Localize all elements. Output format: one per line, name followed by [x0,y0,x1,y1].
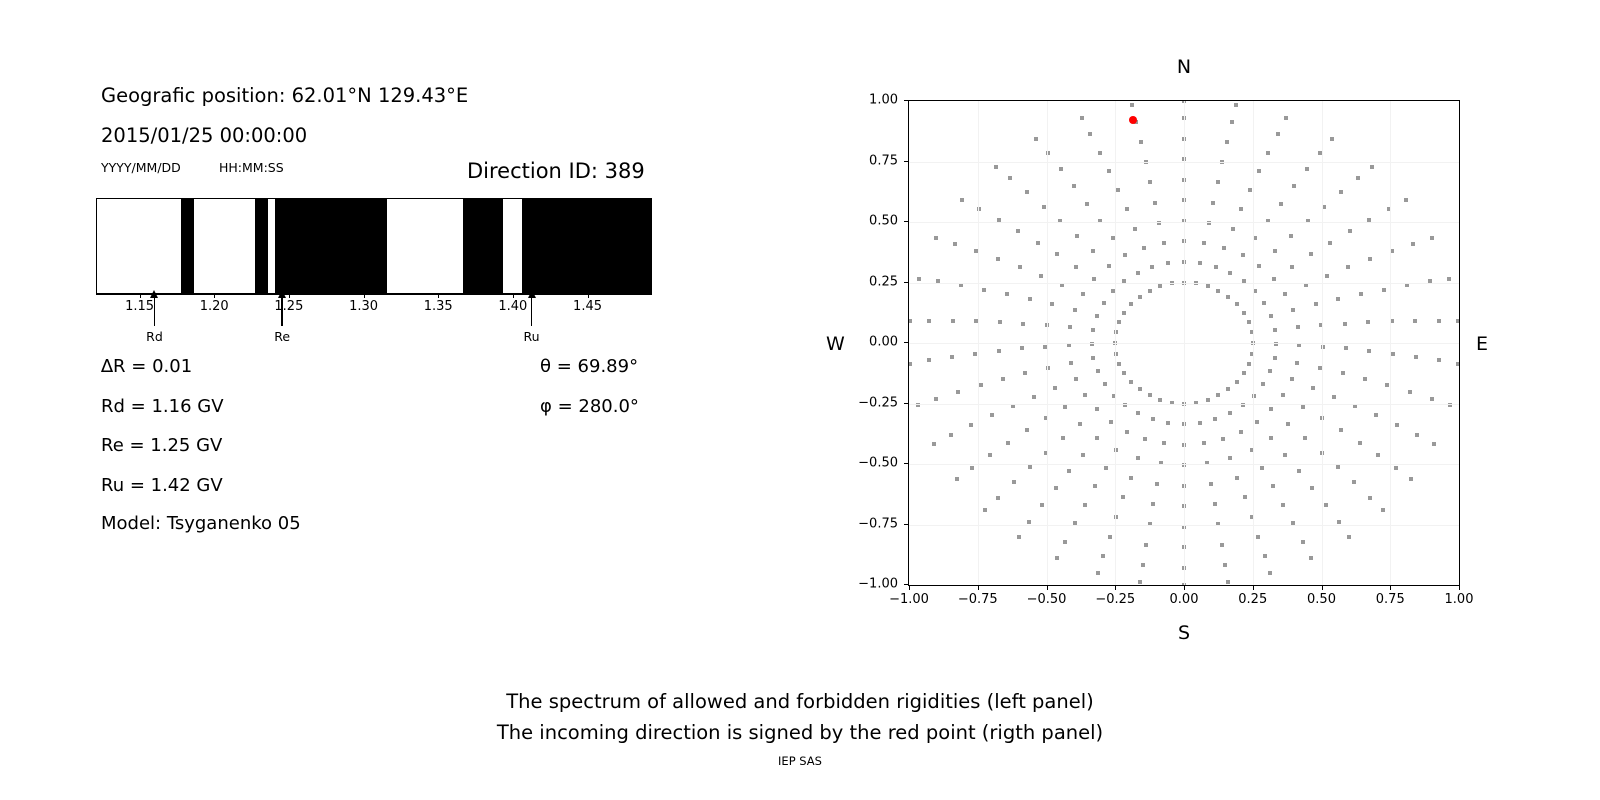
direction-point [949,433,953,437]
grid-line-horizontal [909,343,1459,344]
plot-x-tick [909,586,910,590]
direction-point [1348,229,1352,233]
direction-point [1295,361,1299,365]
direction-point [1289,234,1293,238]
direction-point [1166,421,1170,425]
direction-point [1155,482,1159,486]
direction-point [1216,393,1220,397]
direction-point [934,397,938,401]
rigidity-marker-arrow-ru [531,294,533,326]
direction-point [1339,428,1343,432]
direction-point [1148,289,1152,293]
direction-point [927,319,931,323]
plot-x-tick [978,586,979,590]
plot-y-tick-label: 0.50 [869,214,898,229]
direction-point [1432,442,1436,446]
direction-point [1091,328,1095,332]
spectrum-x-tick [364,294,365,298]
direction-point [970,466,974,470]
direction-point [982,288,986,292]
direction-point [1141,563,1145,567]
direction-point [1230,120,1234,124]
plot-y-tick [904,161,908,162]
direction-point [1324,503,1328,507]
direction-point [1206,284,1210,288]
direction-point [1226,295,1230,299]
direction-point [1061,436,1065,440]
direction-point [1025,190,1029,194]
direction-point [1125,430,1129,434]
direction-point [1018,265,1022,269]
time-format-hint: HH:MM:SS [219,160,284,175]
direction-point [1020,346,1024,350]
compass-label-north: N [1177,56,1191,78]
direction-point [1220,543,1224,547]
direction-point [1008,176,1012,180]
direction-point [927,358,931,362]
direction-point [1136,411,1140,415]
direction-point [1081,453,1085,457]
direction-point [1133,227,1137,231]
direction-point [1096,369,1100,373]
direction-point [1032,395,1036,399]
direction-point [1101,554,1105,558]
direction-point [950,355,954,359]
direction-point [1095,314,1099,318]
direction-point [1223,563,1227,567]
direction-point [1273,328,1277,332]
direction-point [1138,295,1142,299]
direction-point [990,413,994,417]
direction-point [1021,322,1025,326]
direction-point [1125,207,1129,211]
direction-point [1385,383,1389,387]
direction-point [1247,362,1251,366]
direction-point [988,453,992,457]
direction-point [1023,371,1027,375]
direction-point [1358,441,1362,445]
rigidity-marker-head-rd [150,290,158,298]
direction-point [1447,277,1451,281]
direction-point [1255,420,1259,424]
direction-point [1269,436,1273,440]
plot-x-tick-label: −1.00 [889,592,929,607]
direction-point [1091,356,1095,360]
direction-point [955,477,959,481]
direction-point [979,383,983,387]
direction-point [1414,355,1418,359]
direction-point [1017,535,1021,539]
caption-line-2: The incoming direction is signed by the … [0,717,1600,748]
rigidity-marker-head-ru [528,290,536,298]
direction-point [1228,271,1232,275]
plot-y-tick-label: 0.75 [869,153,898,168]
direction-point [1158,284,1162,288]
direction-point [1028,297,1032,301]
figure-caption: The spectrum of allowed and forbidden ri… [0,686,1600,748]
direction-point [1268,571,1272,575]
param-model: Model: Tsyganenko 05 [101,513,301,534]
direction-point [1117,362,1121,366]
direction-point [1344,346,1348,350]
direction-point [1235,380,1239,384]
direction-point [1059,167,1063,171]
direction-point [998,320,1002,324]
direction-point [1121,495,1125,499]
rigidity-marker-label-re: Re [274,329,290,344]
forbidden-band [255,199,268,293]
plot-y-tick-label: 1.00 [869,93,898,108]
param-ru: Ru = 1.42 GV [101,475,223,496]
direction-point [1104,466,1108,470]
direction-point [1162,241,1166,245]
direction-point [1262,301,1266,305]
spectrum-x-tick [140,294,141,298]
direction-point [1343,322,1347,326]
direction-point [1368,496,1372,500]
direction-point [1074,265,1078,269]
direction-point [1405,283,1409,287]
direction-point [1209,482,1213,486]
direction-point [1092,277,1096,281]
direction-point [1366,320,1370,324]
direction-point [1103,382,1107,386]
spectrum-x-tick [289,294,290,298]
plot-y-tick-label: 0.00 [869,335,898,350]
direction-point [1130,103,1134,107]
direction-point [1263,554,1267,558]
direction-point [1116,188,1120,192]
footer-attribution: IEP SAS [0,754,1600,768]
direction-point [1269,407,1273,411]
direction-point [1063,405,1067,409]
plot-y-tick [904,584,908,585]
direction-point [1273,249,1277,253]
direction-point [932,442,936,446]
direction-point [1216,289,1220,293]
plot-y-tick-label: 0.25 [869,274,898,289]
direction-point [1301,405,1305,409]
direction-point [908,362,912,366]
plot-x-tick-label: −0.50 [1027,592,1067,607]
direction-plot-area [908,100,1460,586]
direction-point [1235,302,1239,306]
direction-point [1095,407,1099,411]
direction-point [1001,377,1005,381]
direction-point [1257,264,1261,268]
spectrum-x-tick [588,294,589,298]
spectrum-x-tick-label: 1.25 [274,299,303,314]
direction-point [1430,397,1434,401]
plot-y-tick [904,100,908,101]
direction-point [1404,198,1408,202]
direction-point [1214,265,1218,269]
direction-point [951,319,955,323]
direction-point [1332,395,1336,399]
direction-point [1352,480,1356,484]
direction-map-panel: −1.00−0.75−0.50−0.250.000.250.500.751.00… [800,0,1600,680]
rigidity-spectrum-panel: Geografic position: 62.01°N 129.43°E 201… [0,0,800,680]
direction-point [1291,308,1295,312]
direction-point [1162,441,1166,445]
param-re: Re = 1.25 GV [101,435,222,456]
spectrum-x-tick-label: 1.20 [200,299,229,314]
compass-label-west: W [826,333,845,355]
direction-point [1301,540,1305,544]
direction-point [1411,242,1415,246]
direction-point [1257,169,1261,173]
direction-point [1025,428,1029,432]
direction-point [1363,377,1367,381]
direction-point [997,349,1001,353]
direction-point [1221,437,1225,441]
spectrum-x-tick-label: 1.15 [125,299,154,314]
direction-point [1311,386,1315,390]
direction-point [1111,236,1115,240]
direction-point [1055,252,1059,256]
direction-point [1151,417,1155,421]
spectrum-bar-wrapper [96,198,652,294]
spectrum-x-tick [438,294,439,298]
direction-point [1073,308,1077,312]
direction-point [1050,302,1054,306]
direction-point [1336,297,1340,301]
direction-point [1091,249,1095,253]
plot-x-tick-label: 1.00 [1445,592,1474,607]
caption-line-1: The spectrum of allowed and forbidden ri… [0,686,1600,717]
direction-point [1107,264,1111,268]
direction-point [1012,480,1016,484]
direction-point [1081,292,1085,296]
direction-point [1093,484,1097,488]
direction-point [1088,132,1092,136]
plot-x-tick [1047,586,1048,590]
direction-point [917,277,921,281]
direction-point [969,423,973,427]
direction-point [1226,580,1230,584]
grid-line-horizontal [909,464,1459,465]
direction-point [934,236,938,240]
direction-point [1276,132,1280,136]
plot-x-tick [1253,586,1254,590]
direction-point [1281,393,1285,397]
direction-point [1095,436,1099,440]
forbidden-band [522,199,651,293]
forbidden-band [181,199,194,293]
direction-point [1303,436,1307,440]
direction-point [1213,417,1217,421]
direction-point [960,198,964,202]
direction-point [1456,362,1460,366]
direction-point [1129,380,1133,384]
direction-point [1129,302,1133,306]
forbidden-band [275,199,388,293]
direction-point [1346,265,1350,269]
direction-point [1325,274,1329,278]
direction-point [1151,502,1155,506]
direction-point [1228,456,1232,460]
direction-point [1036,241,1040,245]
direction-point [1083,503,1087,507]
direction-point [1074,377,1078,381]
direction-point [1136,271,1140,275]
direction-point [1085,202,1089,206]
direction-point [1068,325,1072,329]
direction-point [959,283,963,287]
param-delta-r: ∆R = 0.01 [101,356,192,377]
plot-y-tick-label: −1.00 [858,577,898,592]
rigidity-marker-arrow-rd [154,294,156,326]
direction-point [1409,477,1413,481]
date-format-hint: YYYY/MM/DD [101,160,181,175]
plot-x-tick-label: 0.00 [1170,592,1199,607]
direction-point [1225,140,1229,144]
geographic-position-label: Geografic position: 62.01°N 129.43°E [101,84,468,107]
direction-point [1153,201,1157,205]
direction-point [1283,292,1287,296]
rigidity-marker-label-rd: Rd [146,329,163,344]
spectrum-x-axis: 1.151.201.251.301.351.401.45 [96,294,652,306]
direction-point [1222,246,1226,250]
direction-point [1239,207,1243,211]
direction-point [1055,556,1059,560]
direction-point [1042,205,1046,209]
plot-x-tick [1115,586,1116,590]
direction-point [1382,288,1386,292]
direction-point [1283,453,1287,457]
direction-point [1374,413,1378,417]
direction-point [1314,302,1318,306]
param-phi: φ = 280.0° [540,396,639,417]
direction-point [1328,241,1332,245]
direction-point [1067,469,1071,473]
direction-point [1381,508,1385,512]
direction-point [1286,422,1290,426]
direction-point [1122,371,1126,375]
direction-point [1269,314,1273,318]
grid-line-horizontal [909,283,1459,284]
direction-point [1028,465,1032,469]
direction-point [1395,423,1399,427]
direction-point [1054,486,1058,490]
direction-point [1290,377,1294,381]
plot-x-tick-label: −0.25 [1095,592,1135,607]
direction-point [1336,465,1340,469]
direction-point [1272,277,1276,281]
direction-point [1266,151,1270,155]
plot-y-tick [904,282,908,283]
grid-line-horizontal [909,222,1459,223]
direction-point [996,257,1000,261]
direction-point [1437,319,1441,323]
direction-point [1310,486,1314,490]
direction-point [1226,387,1230,391]
direction-point [1069,361,1073,365]
direction-point [1241,253,1245,257]
direction-point [1309,556,1313,560]
rigidity-marker-head-re [278,290,286,298]
direction-point [1117,320,1121,324]
direction-point [1143,437,1147,441]
direction-point [1370,165,1374,169]
direction-point [1150,265,1154,269]
rigidity-spectrum-bar [96,198,652,294]
direction-point [1211,201,1215,205]
direction-point [1242,311,1246,315]
direction-point [1063,540,1067,544]
direction-point [1083,393,1087,397]
compass-label-east: E [1476,333,1488,355]
plot-y-tick [904,463,908,464]
direction-point [1072,184,1076,188]
direction-point [1148,180,1152,184]
direction-id-label: Direction ID: 389 [467,159,645,183]
direction-point [1198,261,1202,265]
direction-point [1129,476,1133,480]
direction-point [1078,422,1082,426]
plot-x-tick [1390,586,1391,590]
direction-point [1108,535,1112,539]
direction-point [1096,571,1100,575]
spectrum-x-tick-label: 1.35 [424,299,453,314]
direction-point [1148,393,1152,397]
direction-point [1408,390,1412,394]
direction-point [1216,180,1220,184]
compass-label-south: S [1178,622,1190,644]
plot-x-tick [1459,586,1460,590]
spectrum-x-tick-label: 1.45 [573,299,602,314]
direction-point [1456,319,1460,323]
direction-point [1080,116,1084,120]
direction-point [908,319,912,323]
spectrum-x-tick [513,294,514,298]
direction-point [1247,320,1251,324]
grid-line-horizontal [909,162,1459,163]
direction-point [1253,236,1257,240]
plot-x-tick-label: −0.75 [958,592,998,607]
direction-point [1138,387,1142,391]
axis-line [96,294,652,295]
direction-point [1292,184,1296,188]
direction-point [1005,292,1009,296]
direction-point [973,352,977,356]
plot-y-tick-label: −0.25 [858,395,898,410]
incoming-direction-marker [1129,116,1137,124]
direction-point [1242,371,1246,375]
direction-point [1322,205,1326,209]
direction-point [1376,453,1380,457]
rigidity-marker-label-ru: Ru [524,329,540,344]
plot-x-tick-label: 0.75 [1376,592,1405,607]
plot-x-tick [1322,586,1323,590]
direction-point [1139,140,1143,144]
direction-point [1359,292,1363,296]
direction-point [1243,495,1247,499]
direction-point [996,496,1000,500]
direction-point [1040,503,1044,507]
plot-x-tick-label: 0.25 [1238,592,1267,607]
grid-line-horizontal [909,525,1459,526]
spectrum-x-tick-label: 1.40 [498,299,527,314]
direction-point [953,242,957,246]
spectrum-x-tick [214,294,215,298]
direction-point [1268,369,1272,373]
direction-point [1039,274,1043,278]
rigidity-marker-arrow-re [281,294,283,326]
plot-y-tick-label: −0.75 [858,516,898,531]
direction-point [1415,433,1419,437]
direction-point [1239,430,1243,434]
